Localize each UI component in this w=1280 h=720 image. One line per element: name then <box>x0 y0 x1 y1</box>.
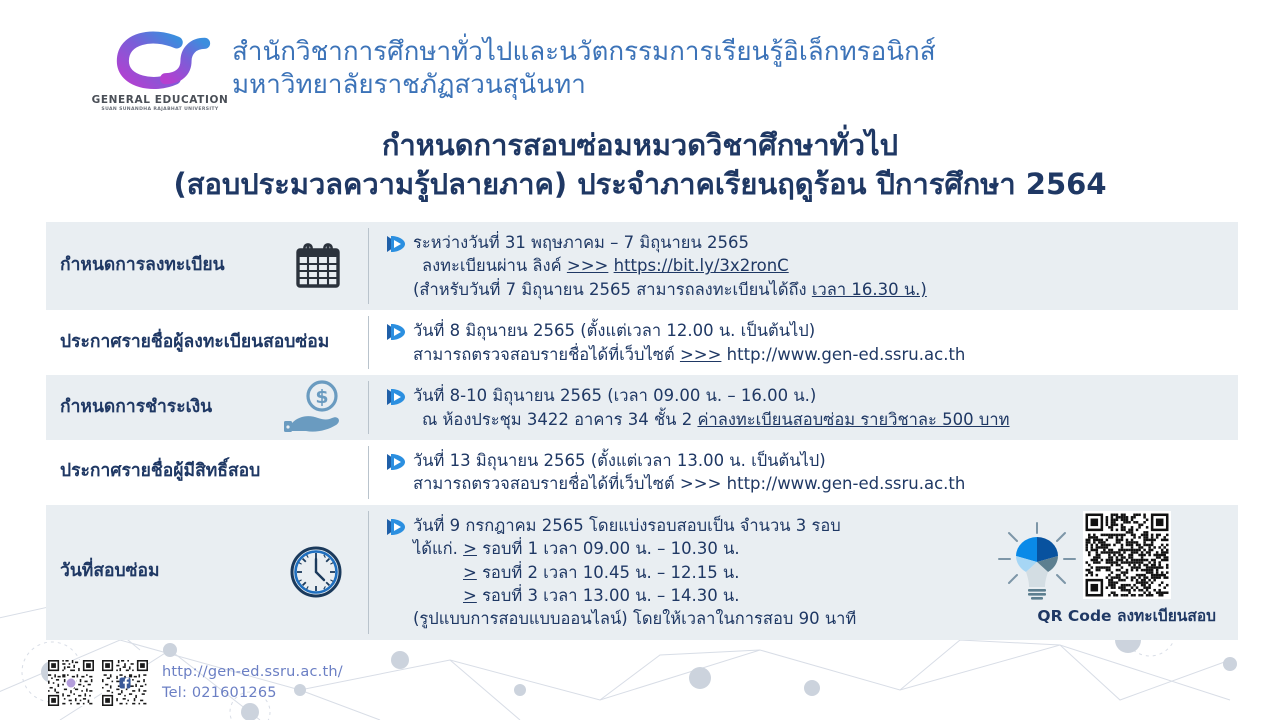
text-run: วันที่ 9 กรกฎาคม 2565 โดยแบ่งรอบสอบเป็น … <box>413 516 841 535</box>
logo-block: GENERAL EDUCATION SUAN SUNANDHA RAJABHAT… <box>104 30 216 112</box>
qr-code-facebook-icon[interactable] <box>102 660 148 706</box>
emphasis-text: ค่าลงทะเบียนสอบซ่อม รายวิชาละ 500 บาท <box>697 410 1009 429</box>
text-run: วันที่ 13 มิถุนายน 2565 (ตั้งแต่เวลา 13.… <box>413 451 826 470</box>
content-line: ระหว่างวันที่ 31 พฤษภาคม – 7 มิถุนายน 25… <box>413 231 1228 254</box>
arrow-bullet <box>385 234 407 258</box>
text-run: ลงทะเบียนผ่าน ลิงค์ <box>422 256 567 275</box>
arrow-bullet <box>385 387 407 411</box>
text-run: วันที่ 8-10 มิถุนายน 2565 (เวลา 09.00 น.… <box>413 386 816 405</box>
content-lines: วันที่ 8 มิถุนายน 2565 (ตั้งแต่เวลา 12.0… <box>413 319 1228 366</box>
arrow-bullet-icon <box>385 517 407 537</box>
text-run: (รูปแบบการสอบแบบออนไลน์) โดยให้เวลาในการ… <box>413 609 856 628</box>
row-label-cell-payment: กำหนดการชำระเงิน$ <box>46 375 368 440</box>
row-label: กำหนดการลงทะเบียน <box>60 255 225 277</box>
qr-code-icon[interactable] <box>1083 511 1171 599</box>
table-row: ประกาศรายชื่อผู้มีสิทธิ์สอบวันที่ 13 มิถ… <box>46 440 1238 505</box>
row-icon-payment: $ <box>284 379 344 437</box>
title-line-2: (สอบประมวลความรู้ปลายภาค) ประจำภาคเรียนฤ… <box>0 165 1280 204</box>
content-line: วันที่ 8 มิถุนายน 2565 (ตั้งแต่เวลา 12.0… <box>413 319 1228 342</box>
money-hand-icon: $ <box>284 379 344 437</box>
text-run[interactable]: http://www.gen-ed.ssru.ac.th <box>721 345 965 364</box>
text-run: สามารถตรวจสอบรายชื่อได้ที่เว็บไซต์ <box>413 345 680 364</box>
header: GENERAL EDUCATION SUAN SUNANDHA RAJABHAT… <box>104 30 936 112</box>
emphasis-text: > <box>463 539 477 558</box>
footer-contact: http://gen-ed.ssru.ac.th/ Tel: 021601265 <box>48 660 343 706</box>
emphasis-text: > <box>463 586 477 605</box>
table-row: วันที่สอบซ่อมวันที่ 9 กรกฎาคม 2565 โดยแบ… <box>46 505 1238 640</box>
row-label-cell-exam-date: วันที่สอบซ่อม <box>46 505 368 640</box>
svg-text:$: $ <box>315 386 328 408</box>
row-content-cell-payment: วันที่ 8-10 มิถุนายน 2565 (เวลา 09.00 น.… <box>369 375 1238 440</box>
page-title: กำหนดการสอบซ่อมหมวดวิชาศึกษาทั่วไป (สอบป… <box>0 126 1280 203</box>
exam-registration-qr: QR Code ลงทะเบียนสอบ <box>1037 511 1216 628</box>
footer-website[interactable]: http://gen-ed.ssru.ac.th/ <box>162 662 343 683</box>
row-content-cell-exam-date: วันที่ 9 กรกฎาคม 2565 โดยแบ่งรอบสอบเป็น … <box>369 505 1238 640</box>
text-run: รอบที่ 1 เวลา 09.00 น. – 10.30 น. <box>477 539 740 558</box>
table-row: กำหนดการลงทะเบียนระหว่างวันที่ 31 พฤษภาค… <box>46 222 1238 310</box>
table-row: ประกาศรายชื่อผู้ลงทะเบียนสอบซ่อมวันที่ 8… <box>46 310 1238 375</box>
content-line: ณ ห้องประชุม 3422 อาคาร 34 ชั้น 2 ค่าลงท… <box>413 408 1228 431</box>
row-content-cell-registration: ระหว่างวันที่ 31 พฤษภาคม – 7 มิถุนายน 25… <box>369 222 1238 310</box>
logo-caption-main: GENERAL EDUCATION <box>92 94 229 106</box>
arrow-bullet-icon <box>385 234 407 254</box>
org-name-line-1: สำนักวิชาการศึกษาทั่วไปและนวัตกรรมการเรี… <box>232 36 936 69</box>
arrow-bullet-icon <box>385 452 407 472</box>
text-run: ระหว่างวันที่ 31 พฤษภาคม – 7 มิถุนายน 25… <box>413 233 749 252</box>
row-label: ประกาศรายชื่อผู้ลงทะเบียนสอบซ่อม <box>60 332 329 354</box>
footer-contact-text: http://gen-ed.ssru.ac.th/ Tel: 021601265 <box>162 662 343 704</box>
arrow-bullet-icon <box>385 322 407 342</box>
content-lines: วันที่ 13 มิถุนายน 2565 (ตั้งแต่เวลา 13.… <box>413 449 1228 496</box>
content-line: วันที่ 13 มิถุนายน 2565 (ตั้งแต่เวลา 13.… <box>413 449 1228 472</box>
emphasis-text: >>> <box>680 345 721 364</box>
text-run: ได้แก่. <box>413 539 463 558</box>
text-run: รอบที่ 2 เวลา 10.45 น. – 12.15 น. <box>477 563 740 582</box>
row-label-cell-announce-eligible: ประกาศรายชื่อผู้มีสิทธิ์สอบ <box>46 440 368 505</box>
row-label: วันที่สอบซ่อม <box>60 561 160 583</box>
emphasis-text[interactable]: https://bit.ly/3x2ronC <box>614 256 789 275</box>
row-label: กำหนดการชำระเงิน <box>60 397 212 419</box>
arrow-bullet <box>385 322 407 346</box>
emphasis-text: >>> <box>567 256 608 275</box>
clock-icon <box>288 544 344 600</box>
table-row: กำหนดการชำระเงิน$วันที่ 8-10 มิถุนายน 25… <box>46 375 1238 440</box>
organization-names: สำนักวิชาการศึกษาทั่วไปและนวัตกรรมการเรี… <box>232 30 936 103</box>
footer-phone: Tel: 021601265 <box>162 683 343 704</box>
arrow-bullet <box>385 517 407 541</box>
text-run: ณ ห้องประชุม 3422 อาคาร 34 ชั้น 2 <box>422 410 697 429</box>
content-line: สามารถตรวจสอบรายชื่อได้ที่เว็บไซต์ >>> h… <box>413 343 1228 366</box>
qr-code-website-icon[interactable] <box>48 660 94 706</box>
content-lines: วันที่ 8-10 มิถุนายน 2565 (เวลา 09.00 น.… <box>413 384 1228 431</box>
row-content-cell-announce-registered: วันที่ 8 มิถุนายน 2565 (ตั้งแต่เวลา 12.0… <box>369 310 1238 375</box>
row-label: ประกาศรายชื่อผู้มีสิทธิ์สอบ <box>60 461 260 483</box>
content-line: (สำหรับวันที่ 7 มิถุนายน 2565 สามารถลงทะ… <box>413 278 1228 301</box>
content-line: ลงทะเบียนผ่าน ลิงค์ >>> https://bit.ly/3… <box>413 254 1228 277</box>
row-icon-exam-date <box>288 544 344 600</box>
row-icon-registration <box>292 240 344 292</box>
schedule-table: กำหนดการลงทะเบียนระหว่างวันที่ 31 พฤษภาค… <box>46 222 1238 640</box>
poster-canvas: GENERAL EDUCATION SUAN SUNANDHA RAJABHAT… <box>0 0 1280 720</box>
general-education-logo-icon <box>108 30 212 92</box>
org-name-line-2: มหาวิทยาลัยราชภัฏสวนสุนันทา <box>232 69 936 102</box>
text-run: รอบที่ 3 เวลา 13.00 น. – 14.30 น. <box>477 586 740 605</box>
content-lines: ระหว่างวันที่ 31 พฤษภาคม – 7 มิถุนายน 25… <box>413 231 1228 301</box>
row-content-cell-announce-eligible: วันที่ 13 มิถุนายน 2565 (ตั้งแต่เวลา 13.… <box>369 440 1238 505</box>
qr-caption: QR Code ลงทะเบียนสอบ <box>1037 603 1216 628</box>
row-label-cell-announce-registered: ประกาศรายชื่อผู้ลงทะเบียนสอบซ่อม <box>46 310 368 375</box>
arrow-bullet-icon <box>385 387 407 407</box>
text-run: (สำหรับวันที่ 7 มิถุนายน 2565 สามารถลงทะ… <box>413 280 812 299</box>
emphasis-text: เวลา 16.30 น.) <box>812 280 927 299</box>
title-line-1: กำหนดการสอบซ่อมหมวดวิชาศึกษาทั่วไป <box>0 126 1280 165</box>
content-line: วันที่ 8-10 มิถุนายน 2565 (เวลา 09.00 น.… <box>413 384 1228 407</box>
logo-caption-sub: SUAN SUNANDHA RAJABHAT UNIVERSITY <box>101 107 218 112</box>
emphasis-text: > <box>463 563 477 582</box>
calendar-icon <box>292 240 344 292</box>
text-run: วันที่ 8 มิถุนายน 2565 (ตั้งแต่เวลา 12.0… <box>413 321 815 340</box>
row-label-cell-registration: กำหนดการลงทะเบียน <box>46 222 368 310</box>
content-line: สามารถตรวจสอบรายชื่อได้ที่เว็บไซต์ >>> h… <box>413 472 1228 495</box>
text-run[interactable]: สามารถตรวจสอบรายชื่อได้ที่เว็บไซต์ >>> h… <box>413 474 965 493</box>
arrow-bullet <box>385 452 407 476</box>
